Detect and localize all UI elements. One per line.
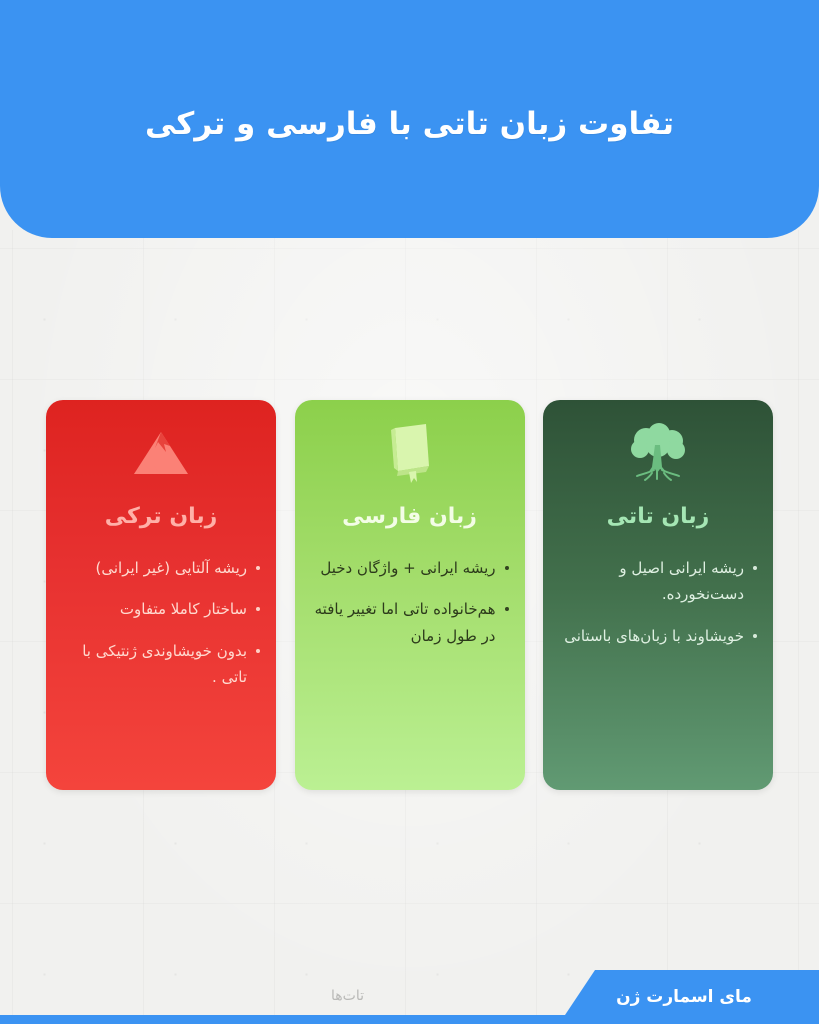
card-title-persian: زبان فارسی — [342, 504, 477, 529]
card-tati[interactable]: زبان تاتی ریشه ایرانی اصیل و دست‌نخورده.… — [543, 400, 773, 790]
list-item: بدون خویشاوندی ژنتیکی با تاتی . — [62, 638, 260, 691]
header-banner: تفاوت زبان تاتی با فارسی و ترکی — [0, 0, 819, 238]
list-item: ریشه ایرانی اصیل و دست‌نخورده. — [559, 555, 757, 608]
bullet-list-persian: ریشه ایرانی + واژگان دخیل هم‌خانواده تات… — [311, 555, 509, 664]
comparison-cards-row: زبان ترکی ریشه آلتایی (غیر ایرانی) ساختا… — [46, 400, 773, 790]
list-item: ریشه آلتایی (غیر ایرانی) — [62, 555, 260, 581]
card-persian[interactable]: زبان فارسی ریشه ایرانی + واژگان دخیل هم‌… — [295, 400, 525, 790]
bullet-list-tati: ریشه ایرانی اصیل و دست‌نخورده. خویشاوند … — [559, 555, 757, 664]
bullet-list-turkish: ریشه آلتایی (غیر ایرانی) ساختار کاملا مت… — [62, 555, 260, 705]
card-title-turkish: زبان ترکی — [105, 504, 218, 529]
footer-accent-strip — [0, 1015, 819, 1024]
tree-icon — [626, 422, 690, 484]
list-item: هم‌خانواده تاتی اما تغییر یافته در طول ز… — [311, 596, 509, 649]
brand-logo-text: مای اسمارت ژن — [616, 987, 762, 1007]
footer: تات‌ها مای اسمارت ژن — [0, 966, 819, 1024]
card-title-tati: زبان تاتی — [607, 504, 710, 529]
list-item: خویشاوند با زبان‌های باستانی — [559, 623, 757, 649]
page-title: تفاوت زبان تاتی با فارسی و ترکی — [145, 103, 674, 146]
footer-caption: تات‌ها — [331, 988, 364, 1004]
mountain-icon — [130, 422, 192, 484]
list-item: ریشه ایرانی + واژگان دخیل — [311, 555, 509, 581]
card-turkish[interactable]: زبان ترکی ریشه آلتایی (غیر ایرانی) ساختا… — [46, 400, 276, 790]
book-icon — [382, 422, 438, 484]
list-item: ساختار کاملا متفاوت — [62, 596, 260, 622]
